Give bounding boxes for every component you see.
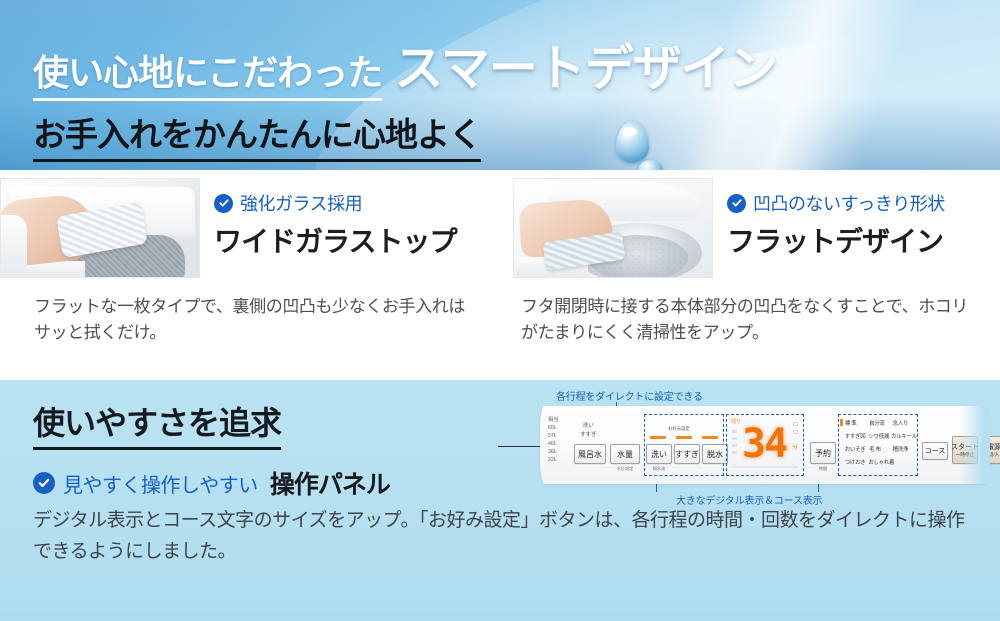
feature-row: 強化ガラス採用 ワイドガラストップ フラットな一枚タイプで、裏側の凹凸も少なくお… bbox=[0, 170, 1000, 378]
feature-description: フラットな一枚タイプで、裏側の凹凸も少なくお手入れはサッと拭くだけ。 bbox=[0, 278, 500, 346]
status-label-wash: 洗い bbox=[580, 422, 597, 431]
button-water-volume[interactable]: 水量 bbox=[610, 444, 640, 464]
indicator-bar-rinse bbox=[676, 436, 692, 439]
button-course-select[interactable]: コース bbox=[922, 442, 948, 460]
course-label[interactable]: おしゃれ着 bbox=[868, 458, 893, 466]
course-row: すすぎ回 シワ低減 カルキール bbox=[840, 429, 916, 442]
course-marker-inactive bbox=[840, 445, 843, 452]
lcd-progress-bar bbox=[732, 466, 798, 468]
water-level-label-0: 相当 bbox=[548, 416, 558, 424]
water-level-label-5: 22L bbox=[548, 456, 558, 464]
water-level-label-3: 46L bbox=[548, 440, 558, 448]
feature-card-glass-top: 強化ガラス採用 ワイドガラストップ フラットな一枚タイプで、裏側の凹凸も少なくお… bbox=[0, 170, 500, 378]
feature-card-flat-design: 凹凸のないすっきり形状 フラットデザイン フタ開閉時に接する本体部分の凹凸をなく… bbox=[500, 170, 1000, 378]
section-title: 使いやすさを追求 bbox=[33, 398, 281, 450]
button-sublabel-reservation: 時間 bbox=[810, 466, 836, 472]
feature-subtitle: 強化ガラス採用 bbox=[240, 190, 362, 216]
annotation-leader-line-left bbox=[498, 446, 540, 447]
button-sublabel-wash: 弱水流 bbox=[646, 466, 672, 472]
indicator-bar-spin bbox=[702, 436, 718, 439]
water-level-label-1: 65L bbox=[548, 424, 558, 432]
course-marker-inactive bbox=[840, 458, 843, 465]
annotation-direct-setting: 各行程をダイレクトに設定できる bbox=[556, 388, 703, 403]
course-active-marker bbox=[840, 419, 843, 426]
section-subtitle-blue: 見やすく操作しやすい bbox=[63, 469, 258, 498]
course-row: 標 準 自分流 念入り bbox=[840, 416, 916, 429]
hero-headline-secondary: お手入れをかんたんに心地よく bbox=[33, 108, 481, 162]
annotation-large-digital-display: 大きなデジタル表示＆コース表示 bbox=[676, 492, 822, 507]
course-row: おいそぎ 毛 布 槽洗浄 bbox=[840, 442, 916, 455]
feature-subtitle-row: 強化ガラス採用 bbox=[214, 190, 456, 216]
check-circle-icon bbox=[33, 472, 55, 494]
hero-banner: 使い心地にこだわった スマートデザイン お手入れをかんたんに心地よく bbox=[0, 0, 1000, 170]
feature-title: ワイドガラストップ bbox=[214, 220, 456, 260]
course-marker-inactive bbox=[840, 432, 843, 439]
button-rinse[interactable]: すすぎ bbox=[674, 444, 700, 464]
hero-headline-lead: 使い心地にこだわった bbox=[33, 44, 382, 101]
indicator-bar-wash bbox=[650, 436, 666, 439]
lcd-remaining-minutes: 34 bbox=[742, 425, 786, 463]
panel-edge-fade bbox=[960, 406, 990, 484]
usability-section: 使いやすさを追求 見やすく操作しやすい 操作パネル デジタル表示とコース文字のサ… bbox=[0, 380, 1000, 621]
course-label[interactable]: カルキール bbox=[891, 432, 916, 440]
check-circle-icon bbox=[214, 194, 233, 213]
status-label-rinse: すすぎ bbox=[580, 431, 597, 440]
course-label[interactable]: 槽洗浄 bbox=[893, 445, 916, 453]
section-description: デジタル表示とコース文字のサイズをアップ。「お好み設定」ボタンは、各行程の時間・… bbox=[33, 506, 968, 568]
course-label[interactable]: 念入り bbox=[893, 419, 916, 427]
course-display-list: 標 準 自分流 念入り すすぎ回 シワ低減 カルキール おいそぎ 毛 布 bbox=[840, 416, 916, 474]
button-spin-dry[interactable]: 脱水 bbox=[702, 444, 728, 464]
course-label[interactable]: シワ低減 bbox=[868, 432, 891, 440]
lcd-right-segment-dots bbox=[793, 422, 798, 434]
section-subtitle-row: 見やすく操作しやすい 操作パネル bbox=[33, 465, 390, 501]
washer-control-panel: 相当 65L 57L 46L 36L 22L 洗い すすぎ 風呂水 水量 水位設… bbox=[540, 406, 990, 484]
hero-headline-emphasis: スマートデザイン bbox=[394, 29, 777, 100]
feature-subtitle: 凹凸のないすっきり形状 bbox=[753, 190, 945, 216]
hand-wiping-glass-top-photo bbox=[0, 178, 200, 278]
feature-description: フタ開閉時に接する本体部分の凹凸をなくすことで、ホコリがたまりにくく清掃性をアッ… bbox=[501, 278, 1000, 346]
feature-subtitle-row: 凹凸のないすっきり形状 bbox=[727, 190, 945, 216]
okonomi-settei-label: お好み設定 bbox=[668, 426, 690, 432]
course-label[interactable]: おいそぎ bbox=[845, 445, 869, 453]
course-label[interactable]: 標 準 bbox=[845, 419, 869, 427]
button-power-sublabel: 切/入 bbox=[989, 452, 999, 458]
lcd-remaining-label: 残り bbox=[731, 418, 741, 425]
product-feature-page: 使い心地にこだわった スマートデザイン お手入れをかんたんに心地よく bbox=[0, 0, 1000, 621]
wash-rinse-status-labels: 洗い すすぎ bbox=[580, 422, 597, 441]
course-label[interactable]: 毛 布 bbox=[869, 445, 892, 453]
button-wash[interactable]: 洗い bbox=[646, 444, 672, 464]
course-label[interactable]: つけおき bbox=[845, 458, 869, 466]
lcd-left-segment-dots bbox=[732, 430, 737, 454]
water-level-label-4: 36L bbox=[548, 448, 558, 456]
course-label[interactable]: 自分流 bbox=[869, 419, 892, 427]
button-bath-water[interactable]: 風呂水 bbox=[574, 444, 606, 464]
feature-title: フラットデザイン bbox=[727, 220, 945, 260]
button-reservation[interactable]: 予約 bbox=[810, 442, 836, 464]
button-sublabel-water-volume: 水位設定 bbox=[610, 466, 640, 472]
water-level-label-2: 57L bbox=[548, 432, 558, 440]
control-panel-illustration: 各行程をダイレクトに設定できる 大きなデジタル表示＆コース表示 相当 65L 5… bbox=[528, 388, 990, 508]
course-row: つけおき おしゃれ着 bbox=[840, 455, 916, 468]
digital-display: 残り 34 分 bbox=[728, 416, 802, 474]
hand-on-flat-tub-photo bbox=[513, 178, 713, 278]
hero-headline-primary: 使い心地にこだわった スマートデザイン bbox=[33, 29, 777, 101]
section-subtitle-black: 操作パネル bbox=[270, 465, 390, 501]
lcd-minutes-unit: 分 bbox=[792, 442, 798, 451]
water-level-indicator-list: 相当 65L 57L 46L 36L 22L bbox=[548, 416, 558, 464]
course-label[interactable]: すすぎ回 bbox=[845, 432, 869, 440]
check-circle-icon bbox=[727, 194, 746, 213]
